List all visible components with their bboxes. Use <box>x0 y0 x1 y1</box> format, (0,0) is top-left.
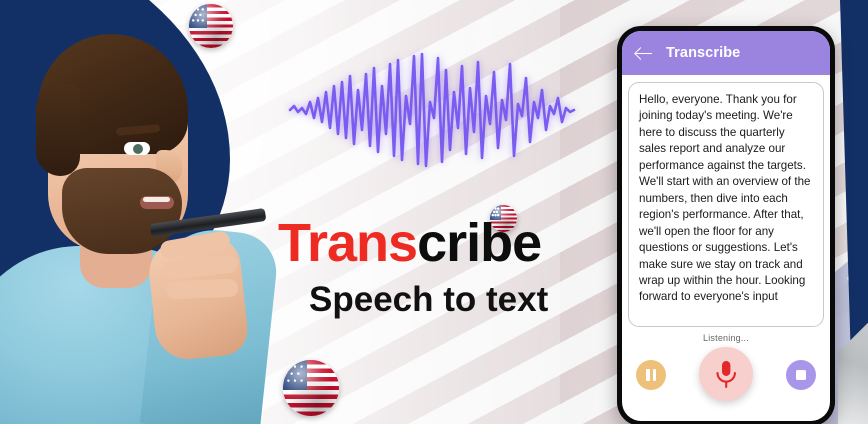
back-arrow-icon[interactable] <box>636 45 653 62</box>
stop-square-icon <box>796 370 806 380</box>
brand-name-red: Trans <box>278 213 417 273</box>
brand-name-black: cribe <box>417 213 541 273</box>
audio-waveform <box>288 52 578 168</box>
page-title: Transcribe <box>278 216 541 270</box>
promo-banner: Transcribe Speech to text Transcribe Hel… <box>0 0 868 424</box>
us-flag-badge-top <box>189 4 233 48</box>
badge-gloss <box>283 360 339 416</box>
phone-mockup: Transcribe Hello, everyone. Thank you fo… <box>617 26 835 424</box>
finger <box>166 279 239 300</box>
tagline: Speech to text <box>309 282 548 317</box>
pause-button[interactable] <box>636 360 666 390</box>
us-flag-badge-bottom <box>283 360 339 416</box>
microphone-icon <box>713 359 739 389</box>
mouth <box>140 196 174 209</box>
recording-controls: Listening... <box>622 327 830 421</box>
transcript-area: Hello, everyone. Thank you for joining t… <box>622 75 830 327</box>
app-bar-title: Transcribe <box>666 45 740 61</box>
person-photo <box>0 0 250 424</box>
status-text: Listening... <box>622 333 830 343</box>
pause-bar <box>653 369 656 381</box>
badge-gloss <box>189 4 233 48</box>
app-bar: Transcribe <box>622 31 830 75</box>
transcript-text[interactable]: Hello, everyone. Thank you for joining t… <box>628 82 824 327</box>
eye <box>124 142 150 155</box>
hair-side <box>36 84 80 176</box>
stop-button[interactable] <box>786 360 816 390</box>
phone-screen: Transcribe Hello, everyone. Thank you fo… <box>622 31 830 421</box>
mic-button[interactable] <box>699 347 753 401</box>
pause-bar <box>646 369 649 381</box>
